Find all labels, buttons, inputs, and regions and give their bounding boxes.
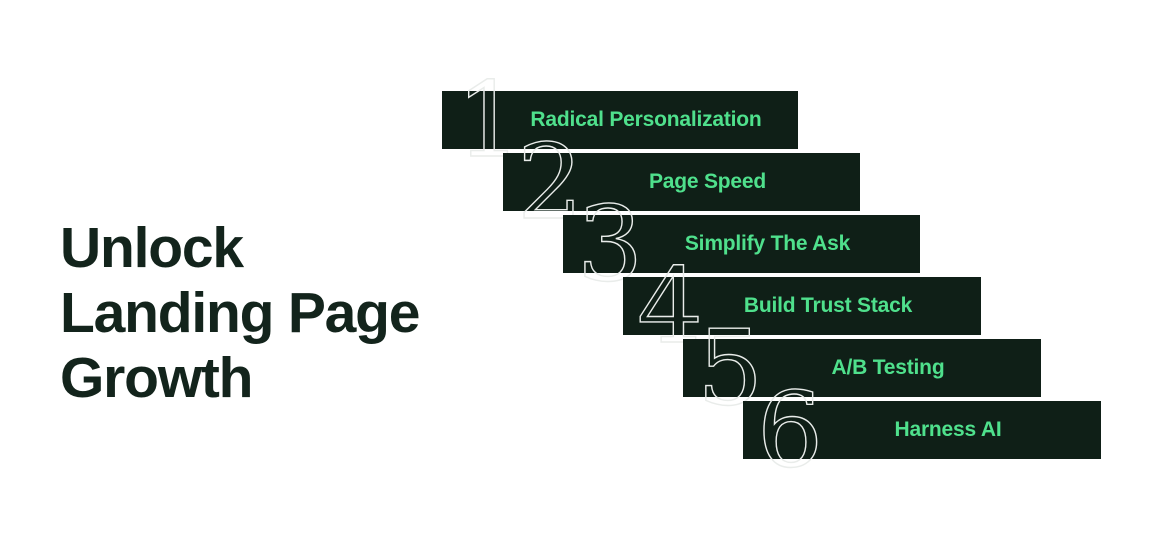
staircase-step[interactable]: 1 Radical Personalization [442,91,798,149]
step-label: Harness AI [813,401,1083,459]
staircase-list: 1 Radical Personalization 2 Page Speed 3… [0,0,1161,552]
step-label: Page Speed [573,153,842,211]
step-label: Build Trust Stack [693,277,963,335]
step-label: Simplify The Ask [633,215,902,273]
staircase-step[interactable]: 5 A/B Testing [683,339,1041,397]
step-label: A/B Testing [753,339,1023,397]
staircase-step[interactable]: 4 Build Trust Stack [623,277,981,335]
staircase-step[interactable]: 2 Page Speed [503,153,860,211]
step-label: Radical Personalization [512,91,780,149]
infographic-canvas: Unlock Landing Page Growth 1 Radical Per… [0,0,1161,552]
staircase-step[interactable]: 3 Simplify The Ask [563,215,920,273]
staircase-step[interactable]: 6 Harness AI [743,401,1101,459]
